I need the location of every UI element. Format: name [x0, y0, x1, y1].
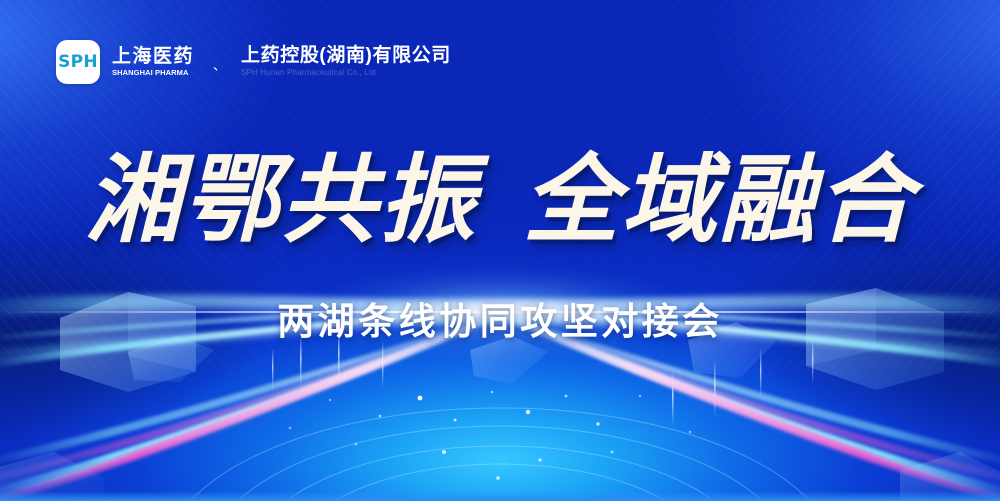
parent-company-name-cn: 上海医药: [112, 47, 194, 67]
banner-subtitle: 两湖条线协同攻坚对接会: [0, 291, 1000, 345]
ground-arcs: [164, 408, 836, 501]
parent-company-block: 上海医药 SHANGHAI PHARMA: [112, 47, 194, 78]
banner-main-title: 湘鄂共振全域融合: [0, 150, 1000, 251]
subsidiary-name-cn: 上药控股(湖南)有限公司: [241, 46, 451, 66]
event-banner: SPH 上海医药 SHANGHAI PHARMA 、 上药控股(湖南)有限公司 …: [0, 0, 1000, 501]
parent-company-name-en: SHANGHAI PHARMA: [112, 68, 194, 78]
particles: [289, 391, 692, 480]
subsidiary-block: 上药控股(湖南)有限公司 SPH Hunan Pharmaceutical Co…: [241, 46, 451, 78]
main-title-part-1: 湘鄂共振: [85, 143, 477, 256]
ground-bottom-edge: [0, 491, 1000, 501]
logo-separator: 、: [213, 55, 226, 74]
sph-logo-text: SPH: [58, 52, 98, 72]
subsidiary-name-en: SPH Hunan Pharmaceutical Co., Ltd: [241, 68, 451, 78]
sph-logo-icon: SPH: [56, 40, 100, 84]
main-title-part-2: 全域融合: [523, 143, 915, 256]
brand-logo-lockup: SPH 上海医药 SHANGHAI PHARMA 、 上药控股(湖南)有限公司 …: [56, 40, 451, 84]
